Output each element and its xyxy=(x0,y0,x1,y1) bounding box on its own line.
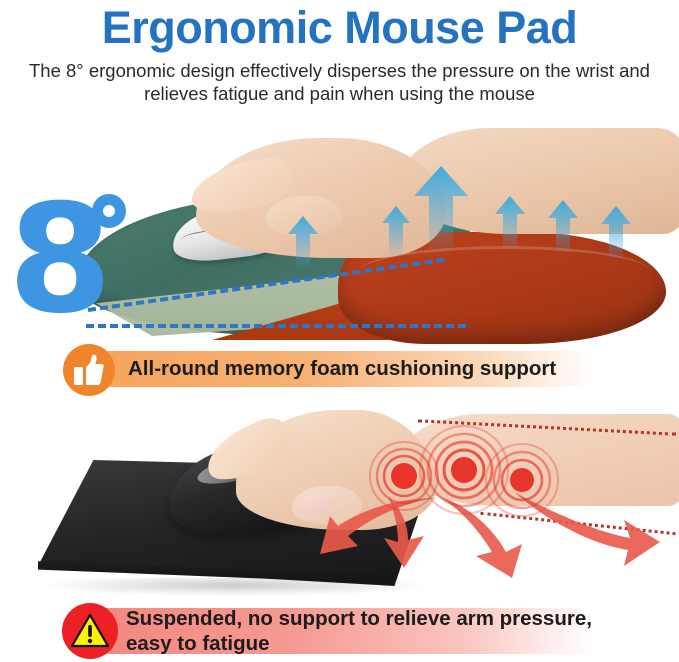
good-banner-text: All-round memory foam cushioning support xyxy=(128,351,648,387)
baseline-dashed-line xyxy=(86,324,466,328)
page-subtitle: The 8° ergonomic design effectively disp… xyxy=(0,59,679,105)
page-title: Ergonomic Mouse Pad xyxy=(0,2,679,54)
panel-suspended-illustration xyxy=(0,400,679,600)
warning-triangle-icon xyxy=(62,603,118,659)
bad-banner-line-2: easy to fatigue xyxy=(126,631,592,656)
infographic-root: Ergonomic Mouse Pad The 8° ergonomic des… xyxy=(0,0,679,662)
header: Ergonomic Mouse Pad The 8° ergonomic des… xyxy=(0,0,679,105)
bad-banner-line-1: Suspended, no support to relieve arm pre… xyxy=(126,606,592,631)
pressure-ring-icon xyxy=(484,442,560,523)
up-arrow-icon xyxy=(414,166,468,252)
angle-badge: 8 xyxy=(8,190,128,330)
panel-ergonomic-illustration: 8 xyxy=(0,118,679,340)
up-arrow-icon xyxy=(382,206,410,256)
up-arrow-icon xyxy=(548,200,578,252)
thumbs-up-icon xyxy=(63,344,115,396)
up-arrow-icon xyxy=(288,216,318,268)
degree-symbol-icon xyxy=(92,194,126,228)
up-arrow-icon xyxy=(495,196,525,248)
bad-banner-text: Suspended, no support to relieve arm pre… xyxy=(126,604,666,658)
up-arrow-icon xyxy=(601,206,631,258)
